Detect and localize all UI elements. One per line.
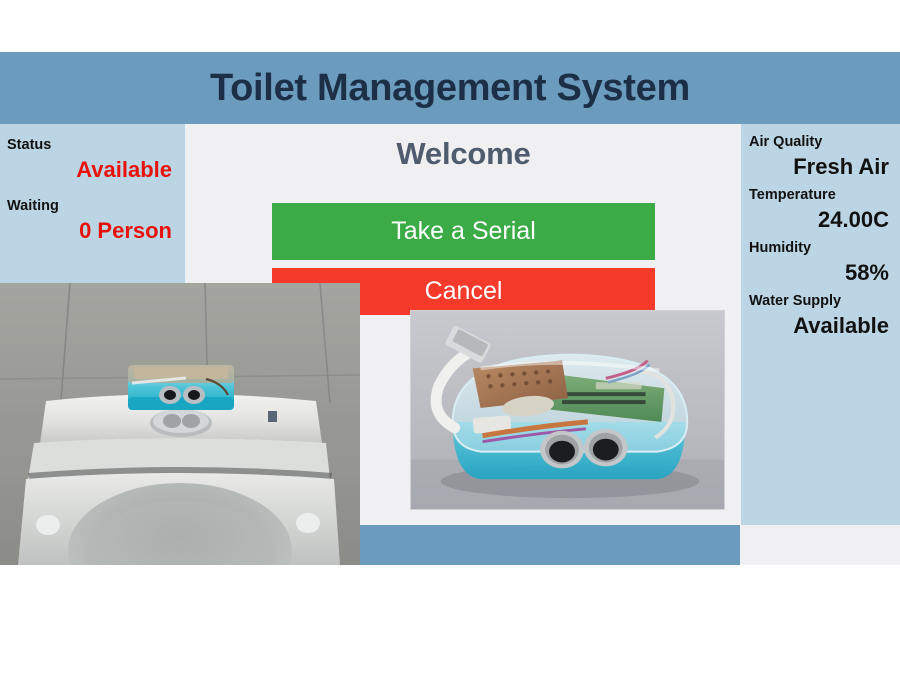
air-quality-value: Fresh Air — [749, 153, 889, 182]
temperature-row: Temperature 24.00C — [749, 186, 889, 234]
take-a-serial-button[interactable]: Take a Serial — [272, 203, 655, 260]
status-row: Status Available — [7, 136, 176, 184]
water-supply-value: Available — [749, 312, 889, 341]
humidity-value: 58% — [749, 259, 889, 288]
app-header: Toilet Management System — [0, 52, 900, 124]
air-quality-label: Air Quality — [749, 133, 889, 153]
right-sensor-panel: Air Quality Fresh Air Temperature 24.00C… — [741, 124, 900, 525]
toilet-photo — [0, 283, 360, 565]
toilet-management-app: Toilet Management System Status Availabl… — [0, 52, 900, 565]
status-value: Available — [7, 156, 176, 185]
status-label: Status — [7, 136, 176, 156]
page-title: Toilet Management System — [210, 67, 690, 110]
air-quality-row: Air Quality Fresh Air — [749, 133, 889, 181]
waiting-row: Waiting 0 Person — [7, 197, 176, 245]
humidity-label: Humidity — [749, 239, 889, 259]
temperature-value: 24.00C — [749, 206, 889, 235]
water-supply-row: Water Supply Available — [749, 292, 889, 340]
temperature-label: Temperature — [749, 186, 889, 206]
waiting-label: Waiting — [7, 197, 176, 217]
waiting-value: 0 Person — [7, 217, 176, 246]
humidity-row: Humidity 58% — [749, 239, 889, 287]
water-supply-label: Water Supply — [749, 292, 889, 312]
sensor-device-photo — [410, 310, 725, 510]
welcome-heading: Welcome — [187, 124, 740, 172]
